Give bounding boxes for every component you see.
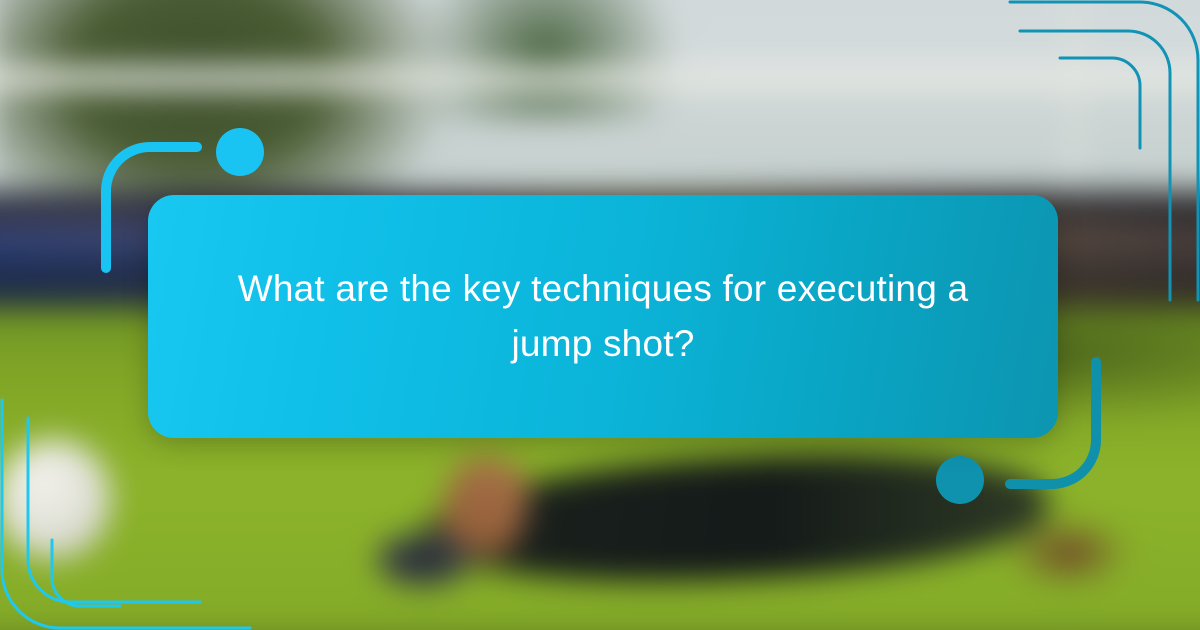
background-tree-second [410, 0, 681, 119]
question-card: What are the key techniques for executin… [148, 195, 1058, 438]
background-goal-crossbar [0, 67, 1200, 91]
background-player-accent [1007, 518, 1129, 586]
question-card-stage: What are the key techniques for executin… [0, 0, 1200, 630]
question-text: What are the key techniques for executin… [223, 262, 983, 372]
background-player-shoe [376, 533, 471, 586]
background-soccer-ball [0, 439, 112, 559]
